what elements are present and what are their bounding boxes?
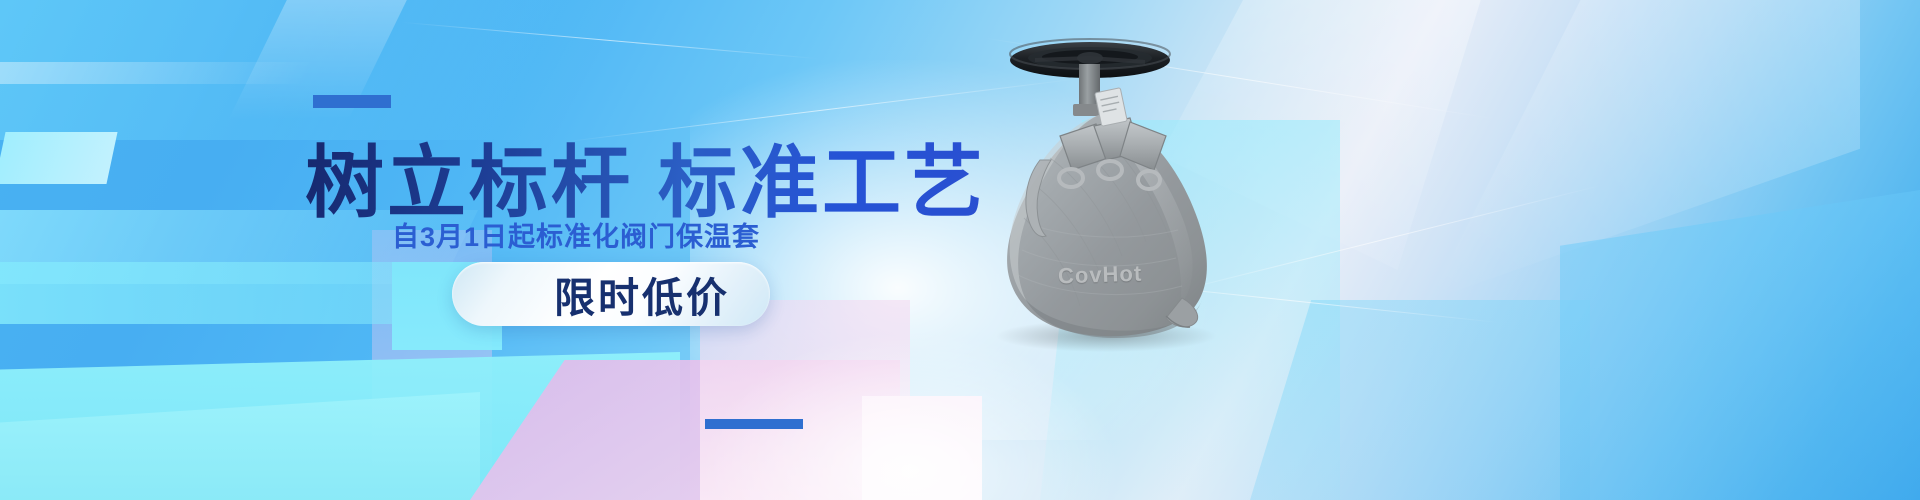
cta-label: 限时低价	[492, 264, 730, 324]
limited-time-price-button[interactable]: 限时低价	[452, 262, 770, 326]
bg-facet-bottom-right	[1560, 190, 1920, 500]
bg-pink-block	[700, 300, 910, 500]
bg-hairline-5	[401, 22, 819, 60]
bg-facet-far-right	[1430, 0, 1860, 300]
bg-pale-rectangle	[0, 132, 118, 184]
bg-cyan-bar	[0, 262, 392, 324]
bg-highlight-streak	[0, 62, 315, 84]
banner-subtitle: 自3月1日起标准化阀门保温套	[392, 215, 760, 254]
product-brand-label: CovHot	[1058, 261, 1143, 290]
bg-cyan-wedge-inner	[0, 392, 480, 500]
bg-pink-block-right	[862, 396, 982, 500]
bg-facet-bottom-center	[1250, 300, 1590, 500]
headline-accent-bar-top	[313, 95, 391, 108]
promo-banner: CovHot 树立标杆 标准工艺 自3月1日起标准化阀门保温套 限时低价	[0, 0, 1920, 500]
bg-cyan-wedge	[0, 352, 680, 500]
headline-accent-bar-bottom	[705, 419, 803, 429]
bg-pink-wedge	[470, 360, 900, 500]
